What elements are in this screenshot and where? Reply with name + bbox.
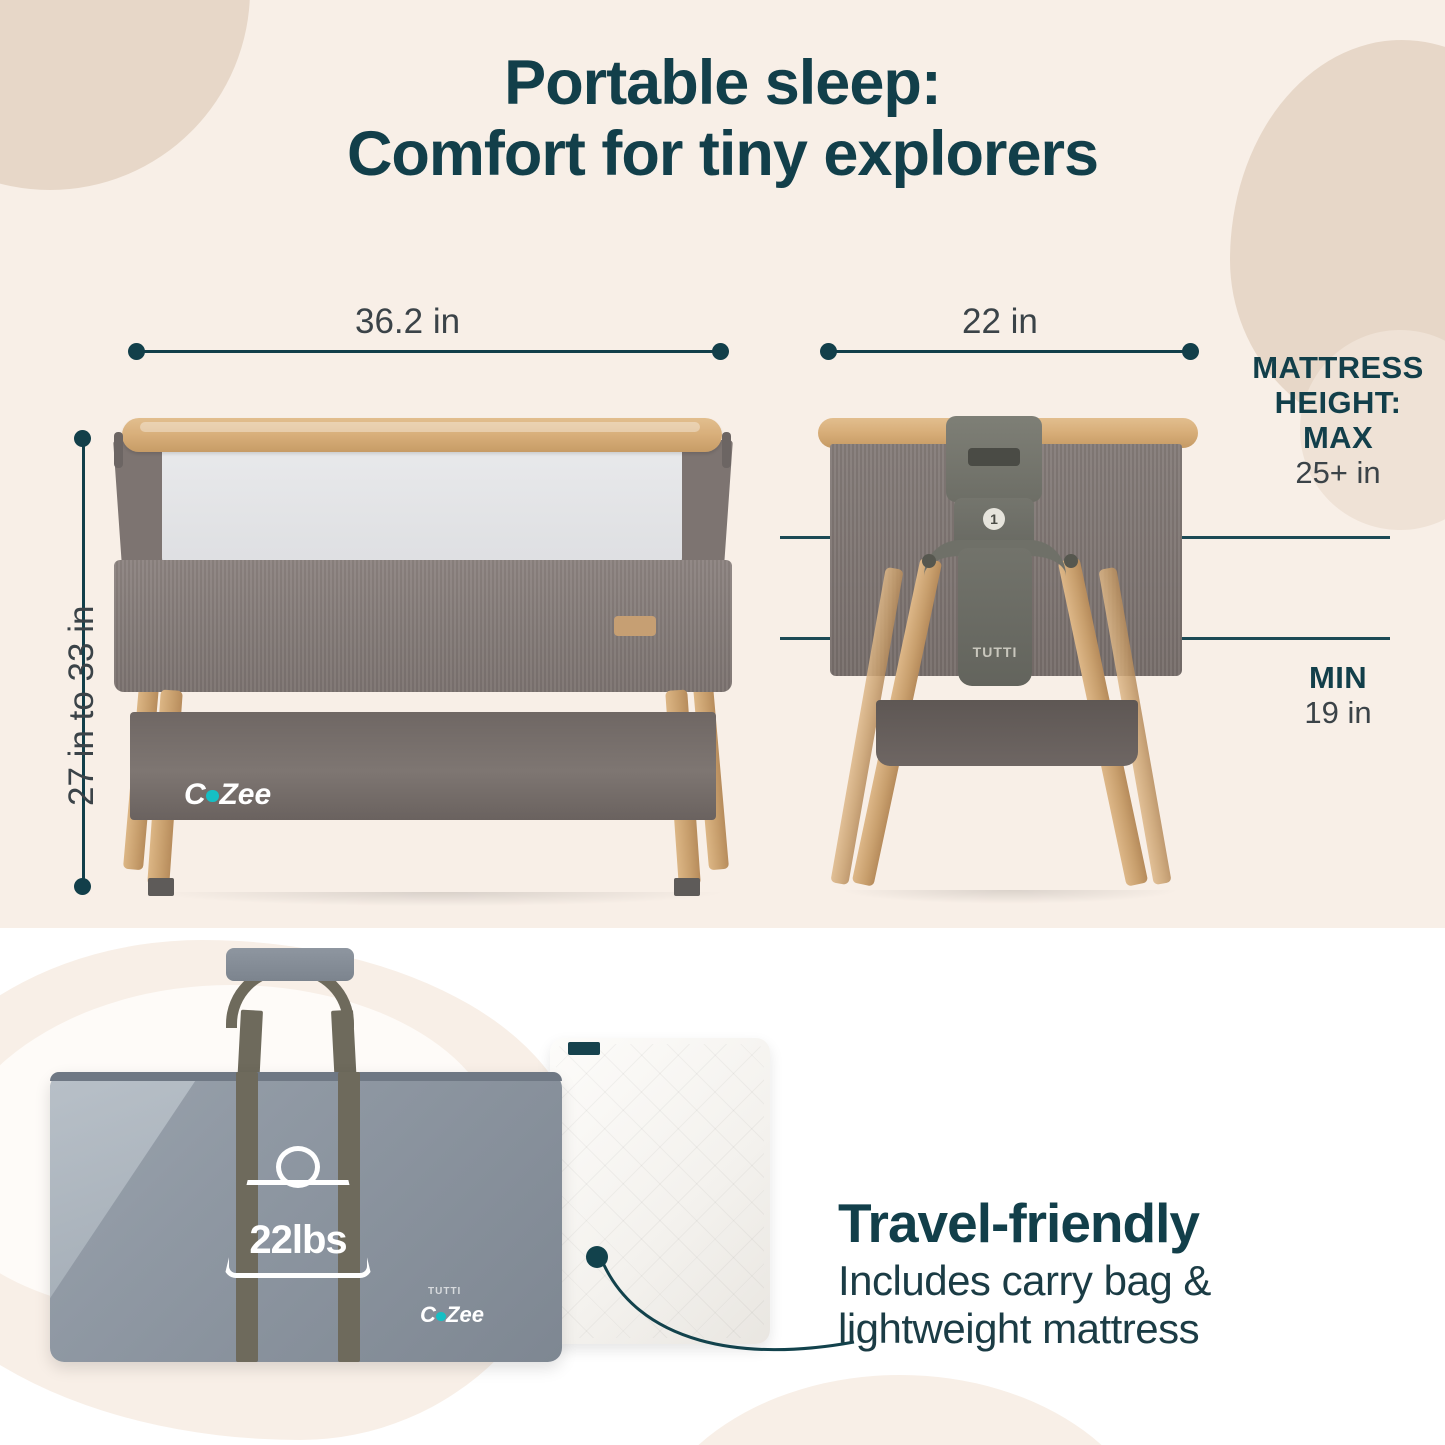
depth-dimension-label: 22 in [962,302,1038,342]
travel-friendly-block: Travel-friendly Includes carry bag & lig… [838,1195,1358,1353]
bag-tutti-logo: TUTTI [428,1286,461,1297]
cozee-logo-bag-dot-icon [436,1312,445,1321]
page-title-line1: Portable sleep: [504,48,941,118]
weight-badge-icon: 22lbs [218,1146,378,1278]
height-dimension-label: 27 in to 33 in [62,606,102,806]
travel-friendly-title: Travel-friendly [838,1195,1358,1253]
bassinet-front-shadow [160,892,720,906]
carry-bag-image: 22lbs TUTTI CZee [40,950,740,1420]
travel-friendly-subtitle-line2: lightweight mattress [838,1305,1358,1353]
travel-mattress [550,1038,770,1344]
width-dim-dot-left [128,343,145,360]
mattress-quilt-pattern [556,1044,764,1338]
depth-dim-dot-right [1182,343,1199,360]
page-title-line2: Comfort for tiny explorers [0,119,1445,190]
cozee-logo-mid: Z [219,778,237,811]
bassinet-zipper-left [114,432,123,468]
bassinet-bracket-number-icon: 1 [983,508,1005,530]
width-dimension-label: 36.2 in [355,302,460,342]
width-dimension-line [136,350,720,353]
mattress-label-line1: MATTRESS [1238,350,1438,385]
mattress-min-value: 19 in [1238,695,1438,730]
cozee-logo-bag: CZee [420,1302,484,1328]
bag-zipper [50,1072,562,1081]
cozee-logo-shelf: CZee [184,778,271,812]
bassinet-bracket-screw-left [922,554,936,568]
height-dim-dot-top [74,430,91,447]
height-dim-dot-bottom [74,878,91,895]
bassinet-side-storage-shelf [876,700,1138,766]
mattress-max-value: 25+ in [1238,455,1438,490]
travel-friendly-subtitle-line1: Includes carry bag & [838,1257,1358,1305]
tutti-brand-logo: TUTTI [952,644,1038,660]
depth-dimension-line [828,350,1190,353]
bassinet-height-bracket-low [958,548,1032,686]
bassinet-bracket-slot [968,448,1020,466]
bassinet-zipper-right [722,432,731,468]
bassinet-rail-highlight [140,422,700,432]
bag-handle-grip [226,948,354,981]
bassinet-side-view-image: 1 TUTTI [800,400,1220,920]
bassinet-leather-tag [614,616,656,636]
mattress-brand-tag [568,1042,600,1055]
infographic-canvas: Portable sleep: Comfort for tiny explore… [0,0,1445,1445]
mattress-label-max: MAX [1238,420,1438,455]
bassinet-mesh-panel [162,448,682,568]
mattress-height-max-block: MATTRESS HEIGHT: MAX 25+ in [1238,350,1438,490]
mattress-label-line2: HEIGHT: [1238,385,1438,420]
bassinet-front-view-image: CZee [100,400,790,920]
bassinet-side-shadow [840,890,1180,904]
bassinet-foot-left [148,878,174,896]
bassinet-foot-right [674,878,700,896]
callout-dot [586,1246,608,1268]
cozee-logo-bag-pre: C [420,1302,436,1327]
cozee-logo-pre: C [184,778,206,811]
depth-dim-dot-left [820,343,837,360]
mattress-height-min-block: MIN 19 in [1238,660,1438,730]
width-dim-dot-right [712,343,729,360]
travel-friendly-subtitle: Includes carry bag & lightweight mattres… [838,1257,1358,1353]
mattress-label-min: MIN [1238,660,1438,695]
weight-value: 22lbs [218,1218,378,1263]
cozee-logo-bag-post: ee [459,1302,483,1327]
cozee-logo-post: ee [238,778,271,811]
cozee-logo-bag-mid: Z [446,1302,459,1327]
cozee-logo-dot-icon [206,790,219,803]
page-title: Portable sleep: Comfort for tiny explore… [0,48,1445,189]
bassinet-bracket-screw-right [1064,554,1078,568]
